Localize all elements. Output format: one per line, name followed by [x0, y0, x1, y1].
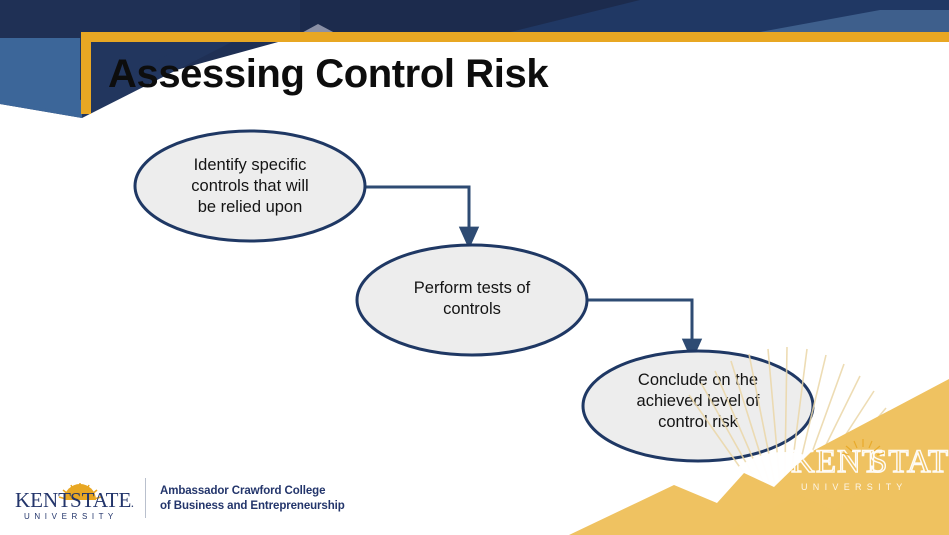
logo-word-kent: KENT: [15, 488, 71, 512]
college-name-line-1: Ambassador Crawford College: [160, 484, 345, 499]
logo-word-state: STATE: [70, 488, 131, 512]
logo-subtitle: U N I V E R S I T Y: [24, 512, 114, 521]
slide-canvas: Assessing Control Risk Identify specific…: [0, 0, 949, 535]
kent-state-logo-svg: KENT STATE . U N I V E R S I T Y: [14, 481, 138, 521]
flow-node-perform-tests[interactable]: [357, 245, 587, 355]
connector-2: [588, 300, 692, 350]
college-name: Ambassador Crawford College of Business …: [160, 484, 345, 513]
connector-1: [366, 187, 469, 238]
flowchart-svg: [0, 0, 949, 535]
kent-state-logo: KENT STATE . U N I V E R S I T Y: [14, 481, 138, 521]
flow-node-identify-controls[interactable]: [135, 131, 365, 241]
flowchart-diagram: Identify specific controls that will be …: [0, 0, 949, 535]
flow-node-conclude-risk[interactable]: [583, 351, 813, 461]
college-name-line-2: of Business and Entrepreneurship: [160, 499, 345, 514]
footer-divider: [145, 478, 146, 518]
logo-registered-mark: .: [131, 495, 134, 510]
